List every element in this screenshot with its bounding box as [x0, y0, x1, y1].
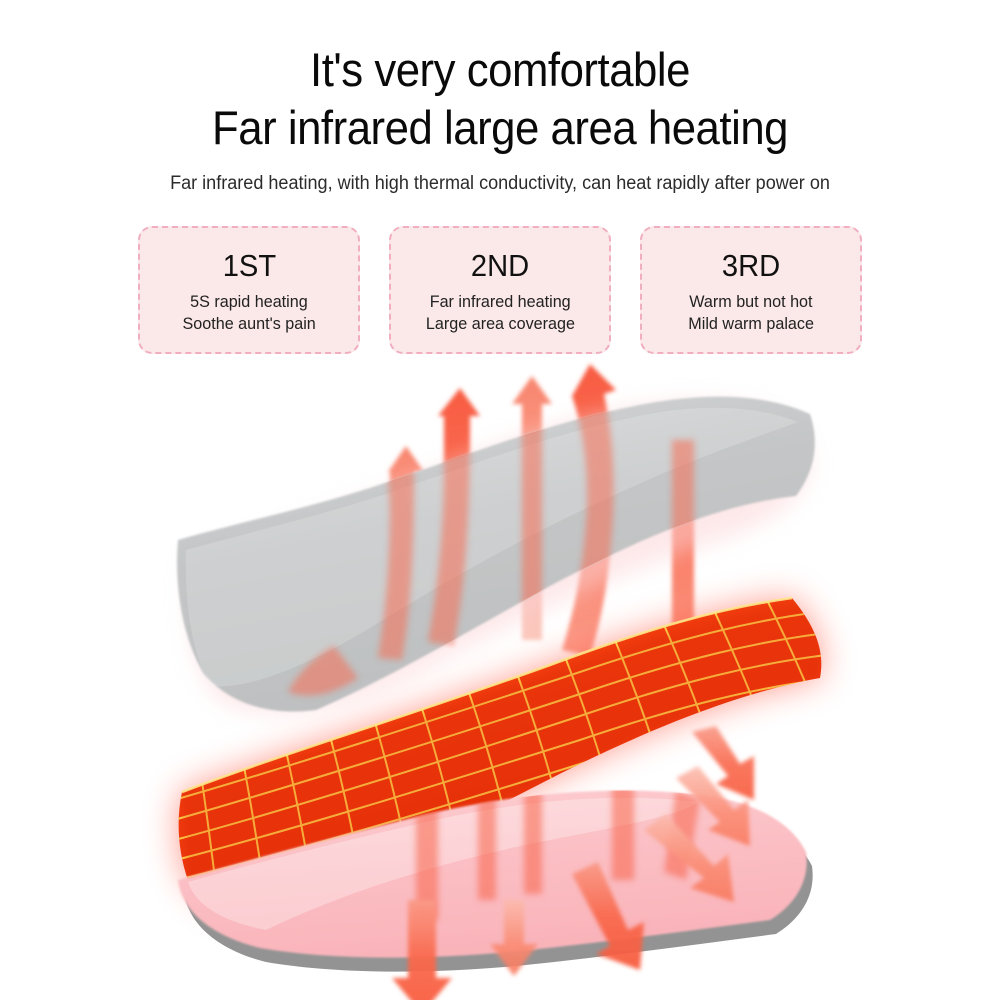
feature-card-3rd: 3RD Warm but not hot Mild warm palace — [640, 226, 862, 354]
feature-card-1st: 1ST 5S rapid heating Soothe aunt's pain — [138, 226, 360, 354]
feature-card-rank: 3RD — [722, 248, 780, 284]
infographic-page: It's very comfortable Far infrared large… — [0, 0, 1000, 1000]
page-title-line-1: It's very comfortable — [35, 44, 965, 96]
feature-card-rank: 2ND — [471, 248, 529, 284]
page-subtitle: Far infrared heating, with high thermal … — [25, 172, 975, 196]
feature-card-line-2: Mild warm palace — [688, 313, 814, 335]
header: It's very comfortable Far infrared large… — [0, 0, 1000, 196]
feature-card-2nd: 2ND Far infrared heating Large area cove… — [389, 226, 611, 354]
feature-card-line-1: Warm but not hot — [689, 291, 812, 313]
feature-card-line-1: 5S rapid heating — [190, 291, 308, 313]
three-layer-heating-pad-diagram — [120, 360, 880, 1000]
feature-card-line-2: Soothe aunt's pain — [182, 313, 315, 335]
feature-card-rank: 1ST — [222, 248, 275, 284]
page-title-line-2: Far infrared large area heating — [35, 102, 965, 154]
feature-card-line-1: Far infrared heating — [430, 291, 571, 313]
feature-card-line-2: Large area coverage — [425, 313, 574, 335]
feature-card-list: 1ST 5S rapid heating Soothe aunt's pain … — [138, 226, 862, 354]
